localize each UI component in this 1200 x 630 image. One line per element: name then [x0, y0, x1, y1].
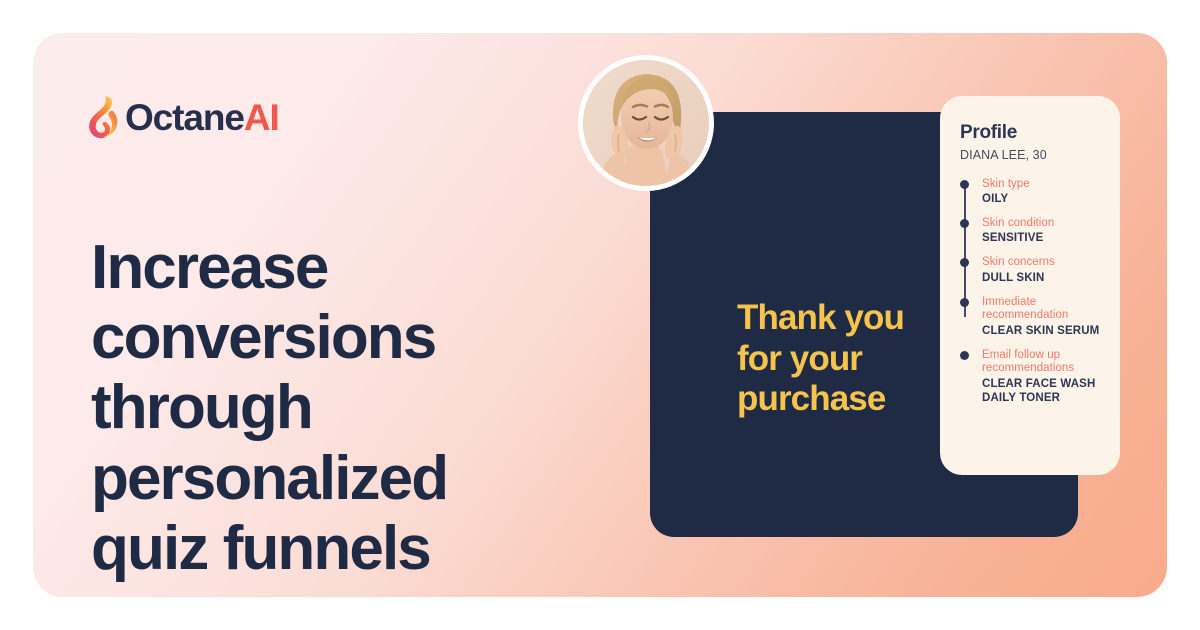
headline-line-1: Increase	[91, 233, 621, 303]
thank-you-line-2: for your	[737, 339, 967, 380]
brand-name: OctaneAI	[125, 99, 279, 136]
avatar	[578, 55, 714, 191]
hero-card: OctaneAI Increase conversions through pe…	[33, 33, 1167, 597]
profile-title: Profile	[960, 123, 1106, 142]
page-frame: OctaneAI Increase conversions through pe…	[0, 0, 1200, 630]
headline-line-5: quiz funnels	[91, 514, 621, 584]
list-item: Skin condition SENSITIVE	[982, 217, 1106, 245]
page-title: Increase conversions through personalize…	[91, 233, 621, 585]
list-item: Skin concerns DULL SKIN	[982, 256, 1106, 284]
timeline-dot-icon	[960, 258, 969, 267]
timeline-dot-icon	[960, 351, 969, 360]
profile-item-value: CLEAR SKIN SERUM	[982, 324, 1106, 338]
flame-icon	[85, 95, 121, 139]
profile-item-value: DULL SKIN	[982, 271, 1106, 285]
profile-timeline: Skin type OILY Skin condition SENSITIVE …	[960, 178, 1106, 405]
timeline-dot-icon	[960, 219, 969, 228]
profile-card: Profile DIANA LEE, 30 Skin type OILY Ski…	[940, 96, 1120, 475]
profile-item-value: DAILY TONER	[982, 391, 1106, 405]
profile-item-label: Immediate recommendation	[982, 296, 1106, 323]
profile-item-label: Email follow up recommendations	[982, 349, 1106, 376]
timeline-connector	[964, 184, 966, 317]
headline-line-3: through	[91, 373, 621, 443]
list-item: Skin type OILY	[982, 178, 1106, 206]
profile-subtitle: DIANA LEE, 30	[960, 149, 1106, 162]
thank-you-line-3: purchase	[737, 379, 967, 420]
headline-line-4: personalized	[91, 444, 621, 514]
profile-item-value: CLEAR FACE WASH	[982, 377, 1106, 391]
brand-name-primary: Octane	[125, 97, 244, 138]
timeline-dot-icon	[960, 298, 969, 307]
list-item: Immediate recommendation CLEAR SKIN SERU…	[982, 296, 1106, 338]
list-item: Email follow up recommendations CLEAR FA…	[982, 349, 1106, 405]
brand-logo[interactable]: OctaneAI	[85, 95, 279, 139]
brand-name-accent: AI	[244, 97, 279, 138]
headline-line-2: conversions	[91, 303, 621, 373]
profile-item-label: Skin condition	[982, 217, 1106, 230]
profile-item-value: SENSITIVE	[982, 231, 1106, 245]
profile-item-label: Skin concerns	[982, 256, 1106, 269]
profile-item-value: OILY	[982, 192, 1106, 206]
timeline-dot-icon	[960, 180, 969, 189]
avatar-photo	[583, 60, 709, 186]
thank-you-message: Thank you for your purchase	[737, 298, 967, 420]
profile-item-label: Skin type	[982, 178, 1106, 191]
thank-you-line-1: Thank you	[737, 298, 967, 339]
